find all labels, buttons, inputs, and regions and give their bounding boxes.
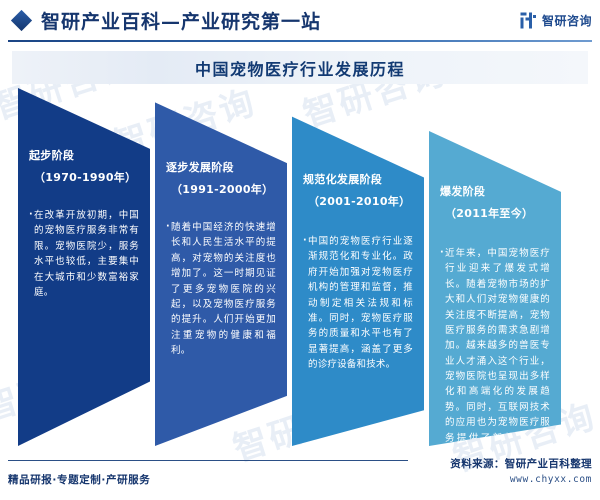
footer-divider bbox=[8, 460, 408, 461]
stage-panel-1: 起步阶段 （1970-1990年） 在改革开放初期，中国的宠物医疗服务非常有限。… bbox=[18, 88, 150, 446]
stage-panel-4: 爆发阶段 （2011年至今） 近年来，中国宠物医疗行业迎来了爆发式增长。随着宠物… bbox=[429, 88, 561, 446]
stage-period: （2011年至今） bbox=[440, 206, 550, 223]
stage-period: （1991-2000年） bbox=[166, 182, 276, 199]
stage-heading: 起步阶段 （1970-1990年） bbox=[29, 88, 139, 186]
stage-panel-3: 规范化发展阶段 （2001-2010年） 中国的宠物医疗行业逐渐规范化和专业化。… bbox=[292, 88, 424, 446]
page-title: 智研产业百科—产业研究第一站 bbox=[41, 7, 321, 34]
page-header: 智研产业百科—产业研究第一站 智研咨询 bbox=[0, 0, 600, 40]
footer-source-text: 资料来源：智研产业百科整理 bbox=[450, 456, 592, 471]
chart-title-band: 中国宠物医疗行业发展历程 bbox=[12, 51, 588, 84]
brand-logo: 智研咨询 bbox=[520, 12, 592, 29]
stage-name: 起步阶段 bbox=[29, 148, 139, 165]
stage-period: （2001-2010年） bbox=[303, 194, 413, 211]
page-footer: 精品研报·专题定制·产研服务 资料来源：智研产业百科整理 www.chyxx.c… bbox=[0, 448, 600, 500]
stage-panel-2: 逐步发展阶段 （1991-2000年） 随着中国经济的快速增长和人民生活水平的提… bbox=[155, 88, 287, 446]
stage-heading: 规范化发展阶段 （2001-2010年） bbox=[303, 88, 413, 210]
chart-title: 中国宠物医疗行业发展历程 bbox=[195, 56, 405, 80]
stage-name: 逐步发展阶段 bbox=[166, 160, 276, 177]
stage-heading: 爆发阶段 （2011年至今） bbox=[440, 88, 550, 222]
footer-url[interactable]: www.chyxx.com bbox=[510, 474, 592, 485]
footer-services-text: 精品研报·专题定制·产研服务 bbox=[8, 472, 150, 487]
stage-period: （1970-1990年） bbox=[29, 170, 139, 187]
diamond-icon bbox=[11, 9, 32, 30]
stage-heading: 逐步发展阶段 （1991-2000年） bbox=[166, 88, 276, 198]
header-divider bbox=[8, 40, 592, 42]
stage-description: 在改革开放初期，中国的宠物医疗服务非常有限。宠物医院少，服务水平也较低，主要集中… bbox=[29, 208, 139, 300]
stage-description: 随着中国经济的快速增长和人民生活水平的提高，对宠物的关注度也增加了。这一时期见证… bbox=[166, 220, 276, 358]
stage-panels: 起步阶段 （1970-1990年） 在改革开放初期，中国的宠物医疗服务非常有限。… bbox=[0, 88, 600, 448]
zhiyan-logo-icon bbox=[520, 12, 537, 29]
stage-name: 爆发阶段 bbox=[440, 184, 550, 201]
stage-description: 近年来，中国宠物医疗行业迎来了爆发式增长。随着宠物市场的扩大和人们对宠物健康的关… bbox=[440, 246, 550, 461]
brand-name: 智研咨询 bbox=[542, 12, 592, 29]
stage-description: 中国的宠物医疗行业逐渐规范化和专业化。政府开始加强对宠物医疗机构的管理和监督，推… bbox=[303, 234, 413, 372]
stage-name: 规范化发展阶段 bbox=[303, 172, 413, 189]
